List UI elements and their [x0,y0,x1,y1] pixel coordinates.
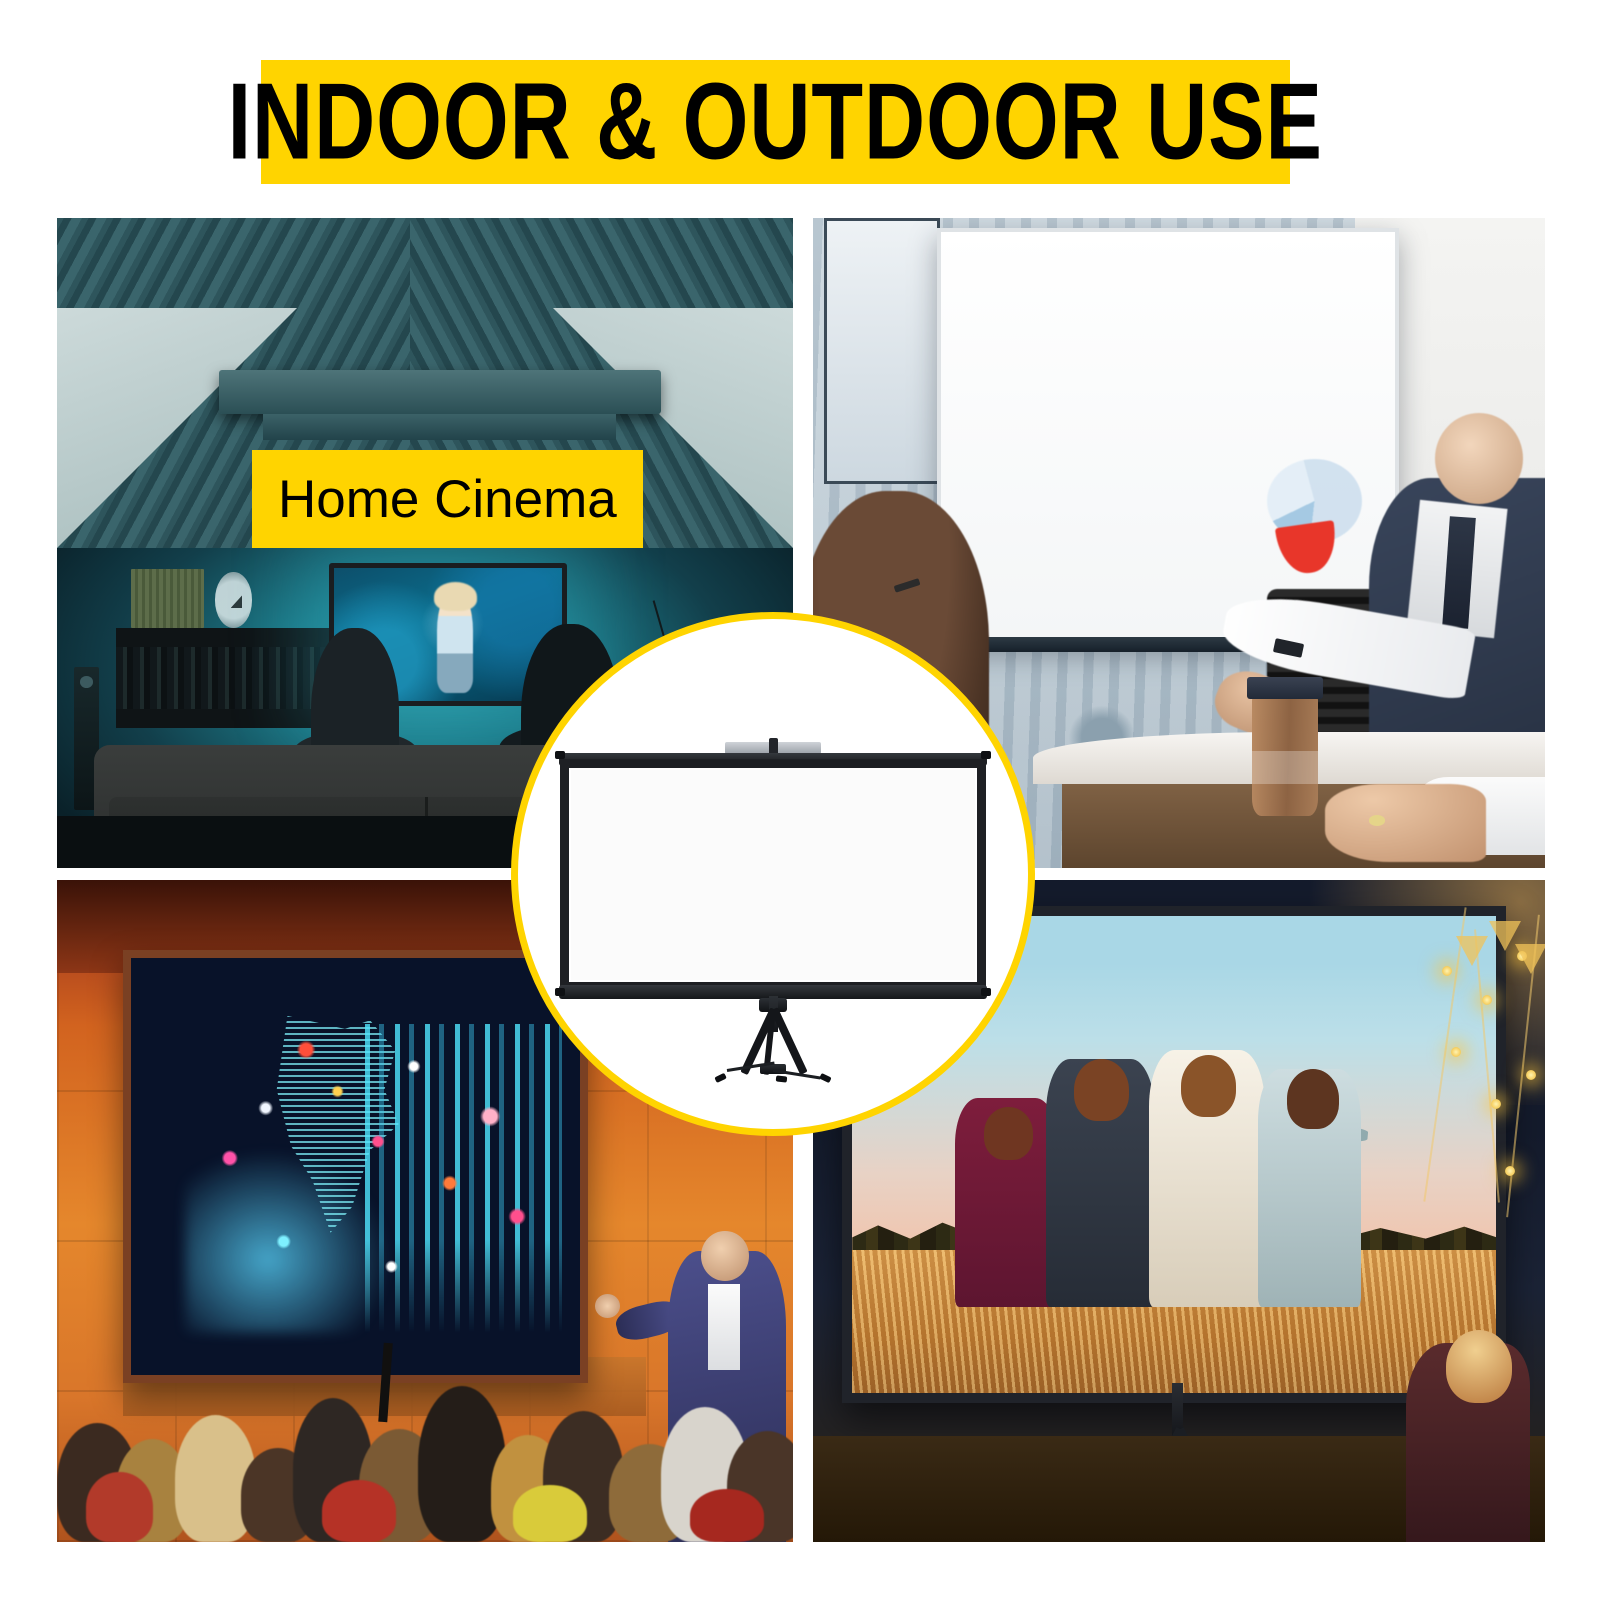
frame-corner [555,988,565,996]
audience-shoulder [513,1485,587,1542]
friend-head [984,1107,1032,1159]
man-head [1435,413,1523,504]
friend-head [1181,1055,1236,1117]
stacked-books [131,569,205,628]
frame-corner [555,751,565,759]
coffee-cup-sleeve [1252,751,1318,784]
frame-corner [981,751,991,759]
projection-surface [560,759,986,991]
page-title: INDOOR & OUTDOOR USE [228,68,1323,177]
wedding-ring [1369,815,1385,825]
light-bulb [1482,995,1492,1005]
foreground-viewer-head [1446,1330,1512,1403]
light-bulb [1491,1099,1501,1109]
speaker-driver [80,676,93,688]
caption-home-cinema: Home Cinema [252,450,643,548]
light-bulb [1505,1166,1515,1176]
ceiling-beam-secondary [263,414,616,440]
presenter-head [701,1231,749,1281]
wall-clock [215,572,252,627]
light-bulb [1451,1047,1461,1057]
string-lights [1428,906,1545,1277]
wall-frame [824,218,940,484]
ceiling-beam [219,370,661,414]
audience-shoulder [322,1480,396,1542]
center-product-badge [511,612,1035,1136]
pennant-flag [1515,944,1545,974]
coffee-cup-lid [1247,677,1323,699]
resting-hand [1325,784,1486,862]
light-wire [1474,929,1500,1202]
audience-shoulder [86,1472,152,1542]
light-bulb [1526,1070,1536,1080]
audience-crowd [57,1337,793,1542]
tripod-foot [775,1075,786,1082]
friend-head [1074,1059,1129,1121]
shelf-lower [116,709,344,729]
presentation-board [937,228,1399,646]
infographic-canvas: INDOOR & OUTDOOR USE [0,0,1600,1600]
light-bulb [1442,966,1452,976]
friend-head [1287,1069,1339,1129]
lecture-projection-screen [123,950,588,1383]
tripod-foot [819,1073,831,1083]
movie-character-hair [434,582,477,611]
shelf-upper [116,628,344,648]
pennant-flag [1456,936,1488,966]
data-point-dots [131,958,580,1375]
frame-corner [981,988,991,996]
shelf-books [116,647,344,709]
caption-home-cinema-label: Home Cinema [278,473,617,526]
tripod-foot [714,1073,726,1083]
presenter-hand [595,1294,620,1318]
audience-shoulder [690,1489,764,1542]
header-banner: INDOOR & OUTDOOR USE [261,60,1290,184]
